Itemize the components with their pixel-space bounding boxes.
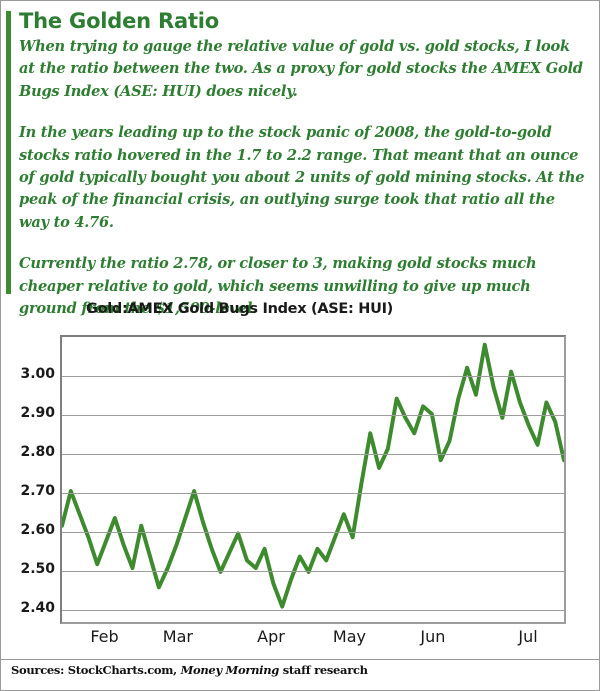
y-tick-label: 2.80 (20, 444, 55, 460)
gridline (62, 454, 564, 455)
gridline (62, 610, 564, 611)
x-tick-label: May (333, 627, 366, 646)
article-prose: The Golden Ratio When trying to gauge th… (19, 9, 585, 320)
y-tick-label: 2.40 (20, 600, 55, 616)
sources-prefix: Sources: StockCharts.com, (11, 663, 181, 677)
plot-area (60, 335, 566, 624)
sources-publication: Money Morning (181, 663, 279, 677)
gridline (62, 571, 564, 572)
series-line (62, 337, 564, 622)
chart-container: Gold:AMEX Gold Bugs Index (ASE: HUI) 2.4… (1, 301, 600, 656)
y-tick-label: 2.90 (20, 405, 55, 421)
gridline (62, 415, 564, 416)
gridline (62, 493, 564, 494)
paragraph-1: When trying to gauge the relative value … (19, 36, 585, 103)
page-title: The Golden Ratio (19, 9, 585, 34)
sources-note: Sources: StockCharts.com, Money Morning … (11, 663, 368, 677)
x-tick-label: Apr (257, 627, 285, 646)
y-axis-labels: 2.402.502.602.702.802.903.00 (1, 335, 55, 624)
x-tick-label: Jun (420, 627, 445, 646)
y-tick-label: 2.70 (20, 483, 55, 499)
x-tick-label: Feb (90, 627, 118, 646)
gridline (62, 376, 564, 377)
y-tick-label: 2.50 (20, 561, 55, 577)
left-accent-bar (6, 11, 11, 294)
paragraph-2: In the years leading up to the stock pan… (19, 122, 585, 234)
y-tick-label: 3.00 (20, 366, 55, 382)
infographic-page: The Golden Ratio When trying to gauge th… (0, 0, 600, 691)
y-tick-label: 2.60 (20, 522, 55, 538)
sources-divider (1, 659, 600, 660)
gridline (62, 532, 564, 533)
x-tick-label: Mar (163, 627, 193, 646)
x-axis-labels: FebMarAprMayJunJul (60, 627, 566, 651)
x-tick-label: Jul (518, 627, 537, 646)
chart-title: Gold:AMEX Gold Bugs Index (ASE: HUI) (86, 301, 393, 317)
sources-suffix: staff research (279, 663, 368, 677)
